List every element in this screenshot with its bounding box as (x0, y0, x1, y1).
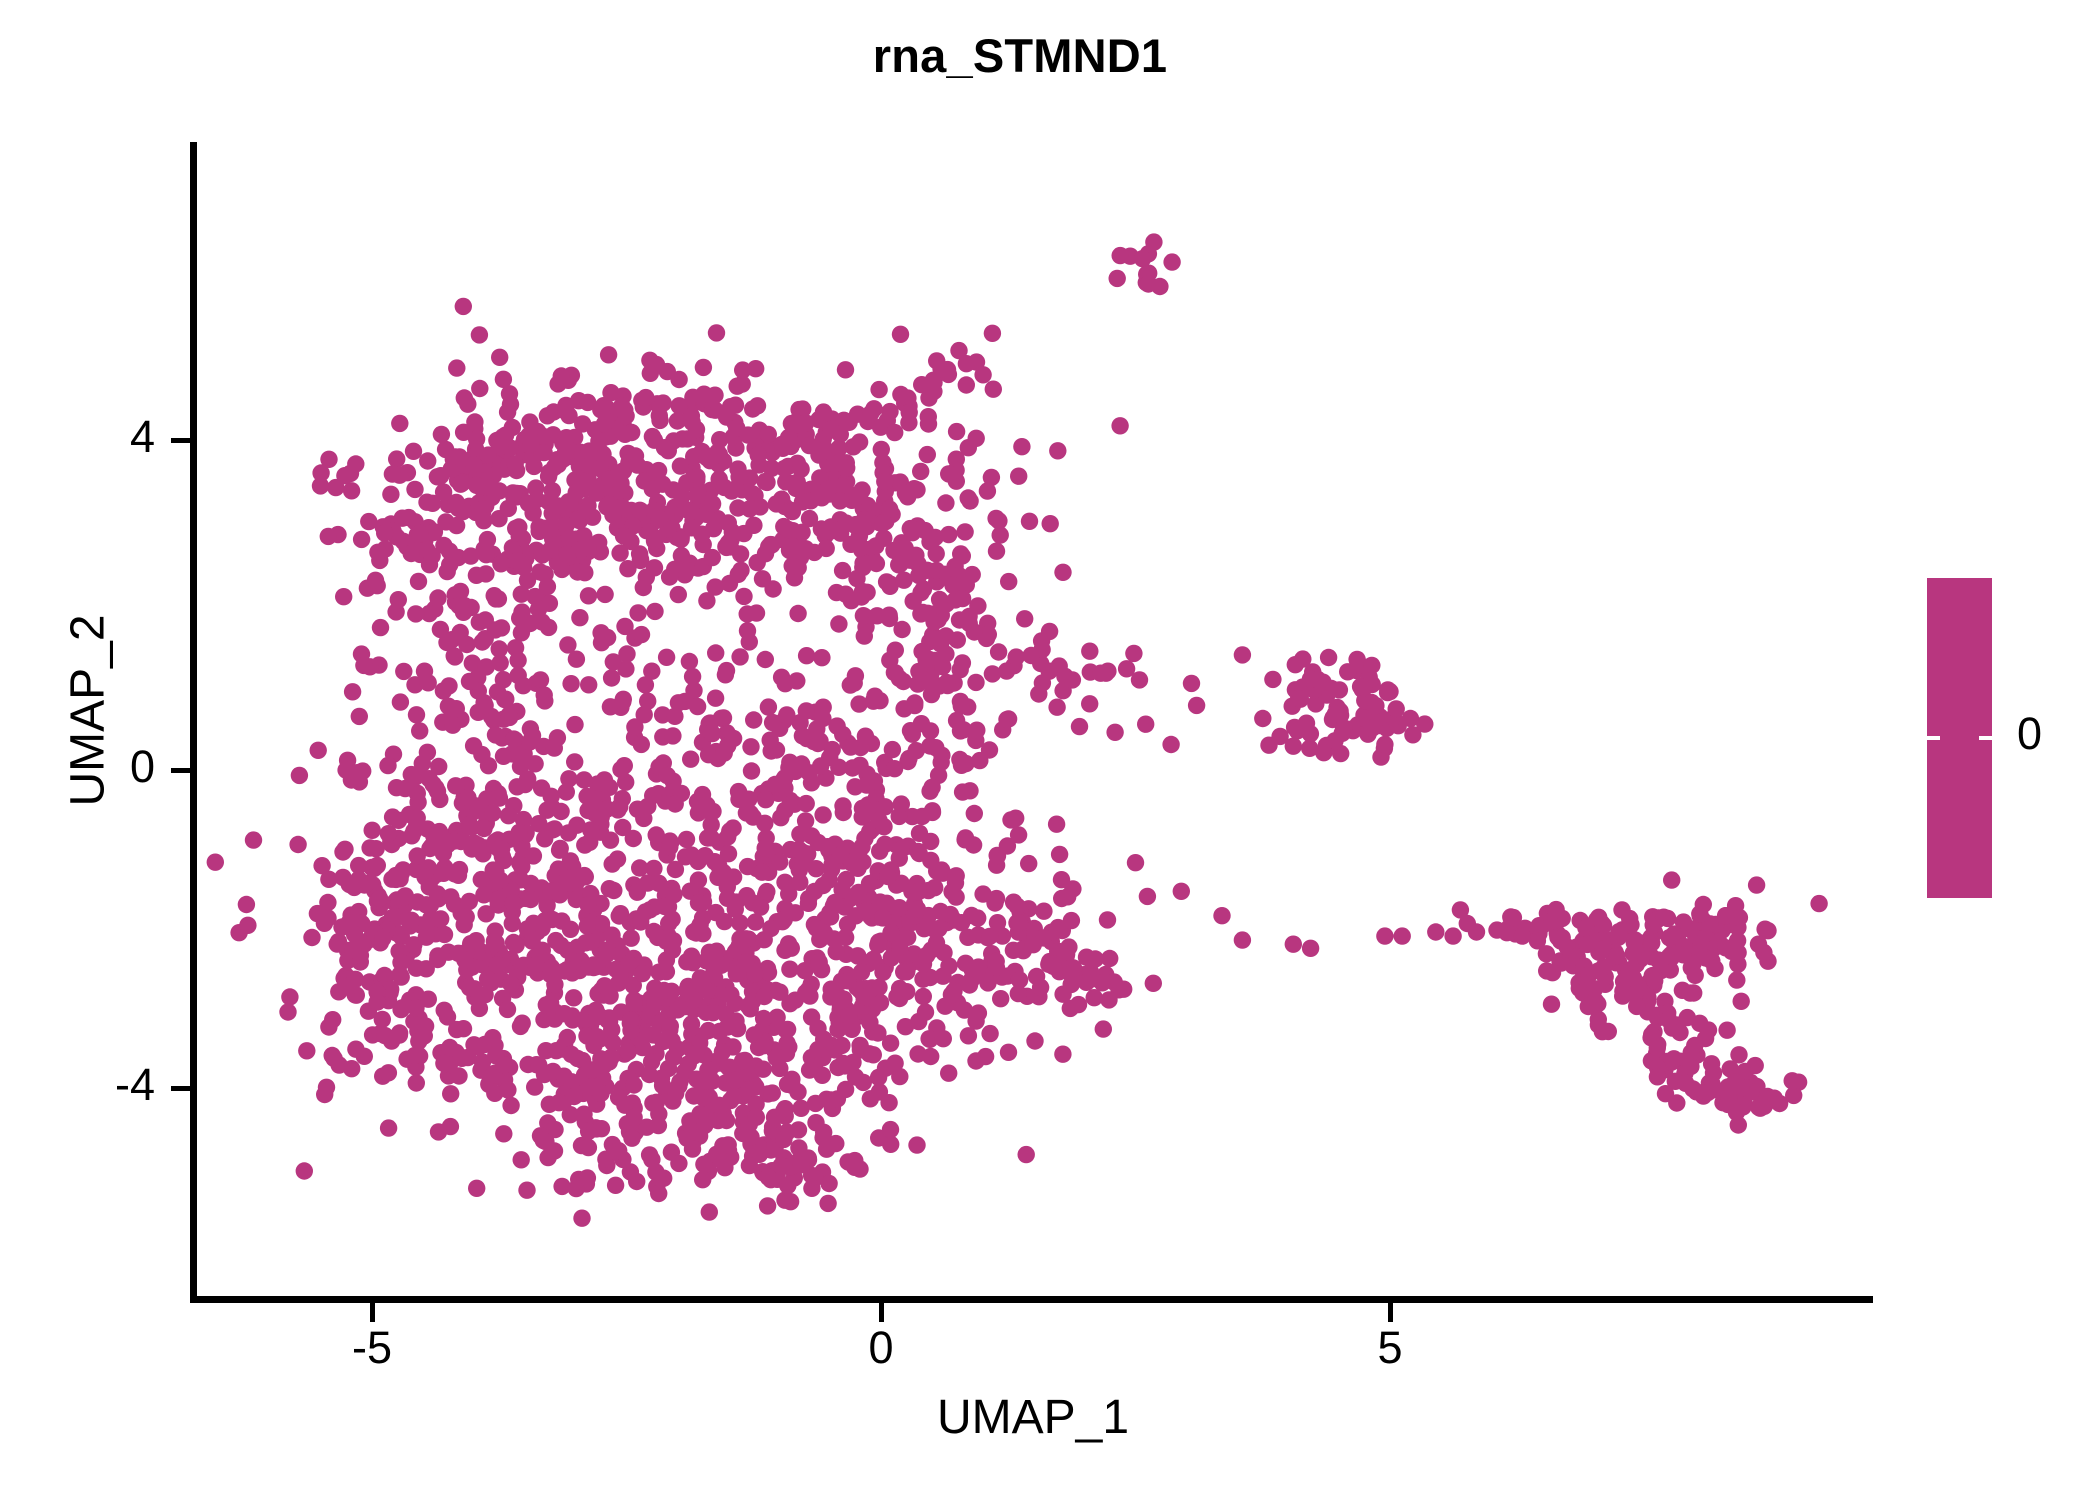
scatter-points-layer (0, 0, 2100, 1500)
x-axis-tick-label: 0 (821, 1322, 941, 1374)
y-axis-tick (171, 438, 190, 443)
chart-canvas: rna_STMND1 -5 0 5 4 0 -4 UMAP_1 UMAP_2 0 (0, 0, 2100, 1500)
colorbar-tick (1979, 736, 1992, 740)
y-axis-line (190, 142, 197, 1303)
legend-colorbar: 0 (1927, 578, 2087, 898)
colorbar-tick (1927, 736, 1940, 740)
x-axis-tick-label: -5 (312, 1322, 432, 1374)
x-axis-label: UMAP_1 (193, 1390, 1873, 1445)
x-axis-tick (1388, 1303, 1393, 1322)
y-axis-label: UMAP_2 (61, 391, 116, 1031)
colorbar-tick-label: 0 (2017, 708, 2042, 760)
scatter-svg (0, 0, 2100, 1500)
y-axis-tick (171, 768, 190, 773)
y-axis-tick-label: -4 (0, 1059, 155, 1111)
y-axis-tick (171, 1086, 190, 1091)
x-axis-tick (879, 1303, 884, 1322)
x-axis-tick (370, 1303, 375, 1322)
x-axis-line (193, 1296, 1873, 1303)
x-axis-tick-label: 5 (1330, 1322, 1450, 1374)
